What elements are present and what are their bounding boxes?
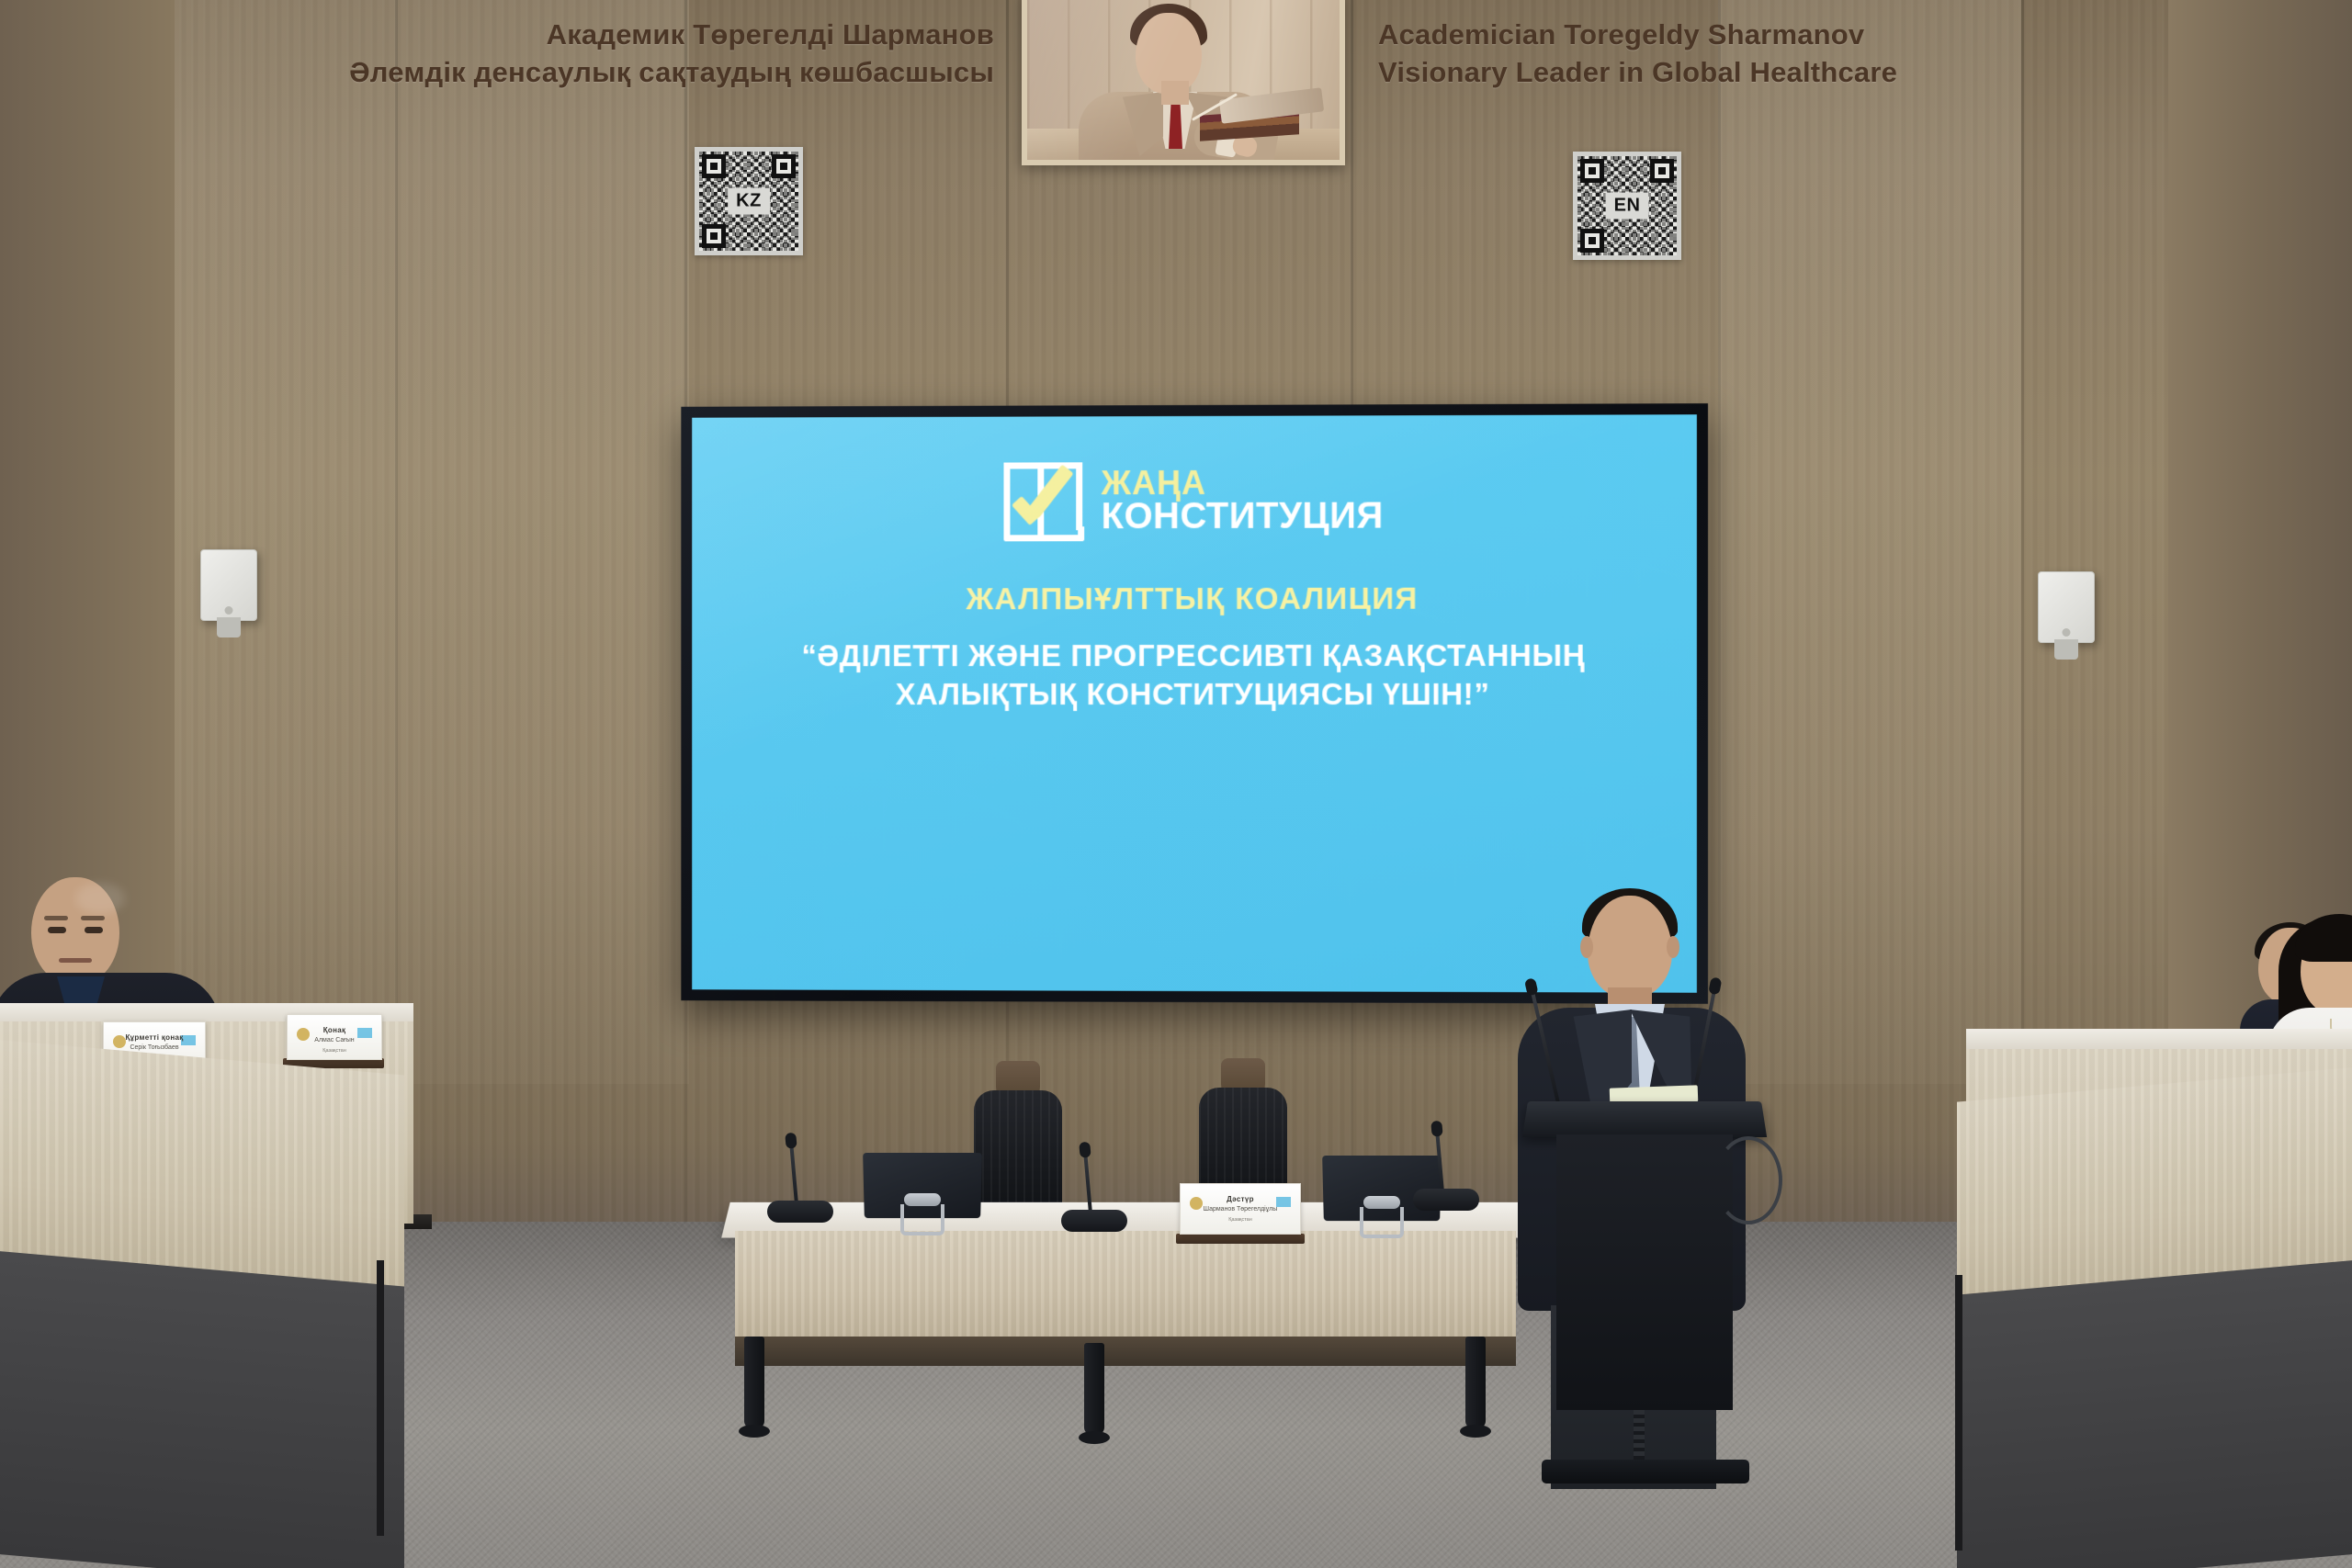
monitor-left	[864, 1153, 981, 1232]
table-leg-left	[744, 1337, 764, 1428]
name-card-line-3: Қазақстан	[1181, 1217, 1300, 1223]
table-leg-right	[1465, 1337, 1486, 1428]
qr-finder-bottom-left	[702, 224, 726, 248]
logo-wordmark: ЖАҢА КОНСТИТУЦИЯ	[1102, 466, 1384, 535]
monitor-stand	[900, 1204, 944, 1235]
microphone-base	[1061, 1210, 1127, 1232]
podium-loose-cable	[1714, 1136, 1782, 1224]
table-wood-grain	[735, 1231, 1516, 1341]
elder-head-highlight	[75, 883, 125, 914]
table-leg-center	[1084, 1343, 1104, 1435]
qr-finder-top-right	[772, 154, 796, 178]
name-card-line-1: Құрметті қонақ	[104, 1033, 205, 1042]
podium-column	[1556, 1134, 1733, 1410]
slide-content: ЖАҢА КОНСТИТУЦИЯ ЖАЛПЫҰЛТТЫҚ КОАЛИЦИЯ “Ә…	[692, 457, 1697, 714]
qr-finder-top-right	[1650, 159, 1674, 183]
right-foreground-fabric-panel	[1957, 1258, 2352, 1568]
desk-microphone-3	[1413, 1122, 1479, 1211]
desk-microphone-2	[1061, 1144, 1127, 1232]
desk-microphone-1	[767, 1134, 833, 1223]
name-card-line-1: Дәстүр	[1181, 1195, 1300, 1203]
woman-hair-top	[2295, 914, 2352, 962]
speaker-head	[1588, 896, 1672, 998]
microphone-stem	[1083, 1153, 1092, 1213]
left-foreground-fabric-panel	[0, 1248, 404, 1568]
name-card-line-3: Қазақстан	[288, 1048, 381, 1054]
wall-speaker-right	[2038, 571, 2095, 643]
qr-code-kz-matrix: KZ	[699, 152, 798, 251]
wall-panel-light	[175, 0, 689, 1084]
name-card-line-2: Алмас Сағын	[288, 1037, 381, 1043]
qr-code-en-matrix: EN	[1577, 156, 1677, 255]
name-card-line-1: Қонақ	[288, 1026, 381, 1034]
elder-eye-right	[85, 927, 103, 933]
podium-base	[1542, 1460, 1749, 1483]
microphone-base	[767, 1201, 833, 1223]
checkmark-icon	[1013, 475, 1081, 528]
elder-eye-left	[48, 927, 66, 933]
qr-code-kz-label: KZ	[728, 188, 770, 215]
presidium-table-front	[735, 1231, 1516, 1341]
wall-speaker-right-mount	[2054, 639, 2078, 660]
right-panel-edge	[1955, 1275, 1962, 1551]
slide-subheading: “ӘДІЛЕТТІ ЖӘНЕ ПРОГРЕССИВТІ ҚАЗАҚСТАННЫҢ…	[692, 637, 1697, 714]
logo-line-1: ЖАҢА	[1102, 466, 1384, 499]
book-page-left	[1004, 526, 1045, 541]
portrait-frame	[1022, 0, 1345, 165]
portrait-painting	[1027, 0, 1340, 160]
monitor-stand	[1360, 1207, 1404, 1238]
microphone-stem	[789, 1144, 798, 1204]
elder-mouth	[59, 958, 92, 963]
qr-code-kz[interactable]: KZ	[695, 147, 803, 255]
wall-heading-kz-line1: Академик Төрегелді Шарманов	[547, 18, 994, 51]
wall-speaker-left	[200, 549, 257, 621]
chair-left	[974, 1061, 1062, 1222]
name-card-stand-center	[1176, 1234, 1305, 1244]
open-book-checkmark-icon	[1001, 458, 1089, 543]
microphone-base	[1413, 1189, 1479, 1211]
podium	[1525, 1098, 1764, 1483]
wall-heading-kz-line2: Әлемдік денсаулық сақтаудың көшбасшысы	[259, 54, 994, 92]
logo-line-2: КОНСТИТУЦИЯ	[1102, 499, 1384, 536]
elder-head	[31, 877, 119, 984]
name-card-line-2: Шарманов Төрегелдіұлы	[1181, 1206, 1300, 1213]
podium-lectern-top	[1522, 1101, 1767, 1137]
elder-brow-right	[81, 916, 105, 920]
wall-speaker-left-mount	[217, 617, 241, 637]
conference-hall-scene: Академик Төрегелді Шарманов Әлемдік денс…	[0, 0, 2352, 1568]
portrait-glass-sheen	[1027, 0, 1340, 160]
speaker-ear-right	[1667, 936, 1679, 958]
qr-code-en[interactable]: EN	[1573, 152, 1681, 260]
wall-heading-en: Academician Toregeldy Sharmanov Visionar…	[1378, 17, 1966, 92]
qr-finder-bottom-left	[1580, 229, 1604, 253]
wall-heading-kz: Академик Төрегелді Шарманов Әлемдік денс…	[259, 17, 994, 92]
speaker-ear-left	[1580, 936, 1593, 958]
elder-brow-left	[44, 916, 68, 920]
qr-finder-top-left	[1580, 159, 1604, 183]
microphone-stem	[1435, 1132, 1444, 1192]
qr-code-en-label: EN	[1606, 193, 1649, 220]
left-panel-edge	[377, 1260, 384, 1536]
qr-finder-top-left	[702, 154, 726, 178]
new-constitution-logo: ЖАҢА КОНСТИТУЦИЯ	[692, 457, 1697, 544]
name-card-center: Дәстүр Шарманов Төрегелдіұлы Қазақстан	[1180, 1183, 1301, 1235]
slide-heading: ЖАЛПЫҰЛТТЫҚ КОАЛИЦИЯ	[692, 581, 1697, 616]
left-name-card-2: Қонақ Алмас Сағын Қазақстан	[287, 1014, 382, 1060]
book-page-right	[1045, 526, 1085, 541]
table-underside-shadow	[735, 1337, 1516, 1366]
wall-heading-en-line2: Visionary Leader in Global Healthcare	[1378, 54, 1966, 92]
wall-heading-en-line1: Academician Toregeldy Sharmanov	[1378, 18, 1864, 51]
